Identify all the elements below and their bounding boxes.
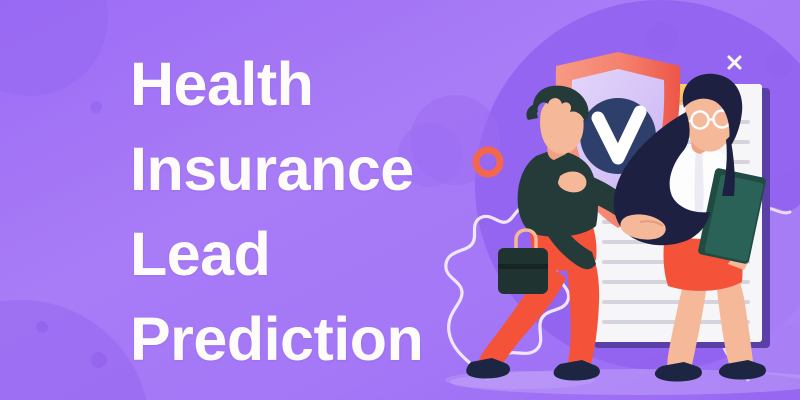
close-icon (729, 57, 740, 68)
title-line-4: Prediction (130, 297, 460, 382)
banner-root: Health Insurance Lead Prediction (0, 0, 800, 400)
title-line-1: Health (130, 42, 460, 127)
title-line-3: Lead (130, 212, 460, 297)
title-line-2: Insurance (130, 127, 460, 212)
page-title: Health Insurance Lead Prediction (130, 42, 460, 382)
